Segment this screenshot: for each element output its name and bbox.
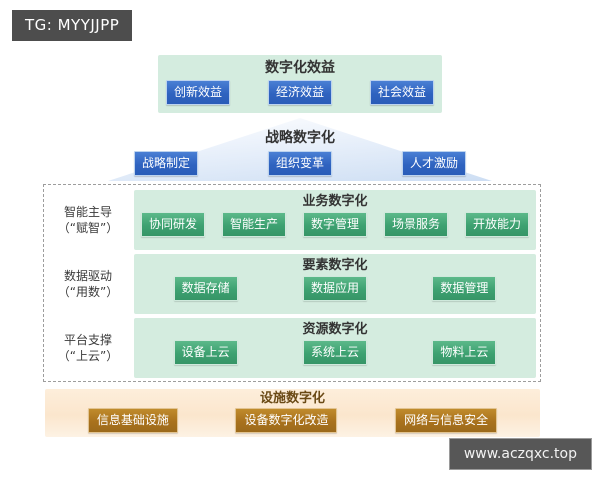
tier-element-digitalization: 数据驱动 （“用数”） 要素数字化 数据存储 数据应用 数据管理	[44, 254, 540, 314]
resource-item-equipment-cloud[interactable]: 设备上云	[174, 340, 238, 365]
core-dashed-container: 智能主导 （“赋智”） 业务数字化 协同研发 智能生产 数字管理 场景服务 开放…	[43, 184, 541, 382]
element-item-data-storage[interactable]: 数据存储	[174, 276, 238, 301]
element-item-data-management[interactable]: 数据管理	[432, 276, 496, 301]
tier-element-items: 数据存储 数据应用 数据管理	[134, 274, 536, 301]
strategy-item-talent[interactable]: 人才激励	[402, 151, 466, 176]
tier-resource-items: 设备上云 系统上云 物料上云	[134, 338, 536, 365]
element-row-label: 数据驱动 （“用数”）	[44, 254, 132, 314]
business-item-smart-production[interactable]: 智能生产	[222, 212, 286, 237]
business-item-open-capability[interactable]: 开放能力	[465, 212, 529, 237]
tier-facility-title: 设施数字化	[45, 389, 540, 407]
facility-item-equipment-upgrade[interactable]: 设备数字化改造	[235, 408, 337, 433]
facility-item-infrastructure[interactable]: 信息基础设施	[88, 408, 178, 433]
facility-item-network-security[interactable]: 网络与信息安全	[395, 408, 497, 433]
strategy-item-planning[interactable]: 战略制定	[134, 151, 198, 176]
tier-business-title: 业务数字化	[134, 190, 536, 210]
business-panel: 业务数字化 协同研发 智能生产 数字管理 场景服务 开放能力	[134, 190, 536, 250]
business-row-label: 智能主导 （“赋智”）	[44, 190, 132, 250]
benefit-item-social[interactable]: 社会效益	[370, 80, 434, 105]
element-label-line2: （“用数”）	[58, 284, 118, 300]
business-item-digital-management[interactable]: 数字管理	[303, 212, 367, 237]
tier-digital-benefit: 数字化效益 创新效益 经济效益 社会效益	[158, 55, 442, 113]
tier-strategy-title: 战略数字化	[108, 129, 492, 147]
tg-watermark-badge: TG: MYYJJPP	[12, 10, 132, 41]
resource-row-label: 平台支撑 （“上云”）	[44, 318, 132, 378]
business-label-line2: （“赋智”）	[58, 220, 118, 236]
resource-item-material-cloud[interactable]: 物料上云	[432, 340, 496, 365]
element-panel: 要素数字化 数据存储 数据应用 数据管理	[134, 254, 536, 314]
business-item-collaborative-rd[interactable]: 协同研发	[141, 212, 205, 237]
element-item-data-application[interactable]: 数据应用	[303, 276, 367, 301]
resource-item-system-cloud[interactable]: 系统上云	[303, 340, 367, 365]
tier-element-title: 要素数字化	[134, 254, 536, 274]
tier-facility-digitalization: 设施数字化 信息基础设施 设备数字化改造 网络与信息安全	[45, 389, 540, 437]
tier-benefit-items: 创新效益 经济效益 社会效益	[158, 77, 442, 105]
tier-business-items: 协同研发 智能生产 数字管理 场景服务 开放能力	[134, 210, 536, 237]
business-item-scenario-service[interactable]: 场景服务	[384, 212, 448, 237]
element-label-line1: 数据驱动	[64, 268, 112, 284]
resource-label-line2: （“上云”）	[58, 348, 118, 364]
benefit-item-innovation[interactable]: 创新效益	[166, 80, 230, 105]
resource-panel: 资源数字化 设备上云 系统上云 物料上云	[134, 318, 536, 378]
business-label-line1: 智能主导	[64, 204, 112, 220]
url-watermark-badge: www.aczqxc.top	[449, 438, 592, 470]
tier-benefit-title: 数字化效益	[158, 55, 442, 77]
tier-strategy-items: 战略制定 组织变革 人才激励	[134, 151, 466, 176]
resource-label-line1: 平台支撑	[64, 332, 112, 348]
tier-resource-digitalization: 平台支撑 （“上云”） 资源数字化 设备上云 系统上云 物料上云	[44, 318, 540, 378]
diagram-canvas: TG: MYYJJPP 数字化效益 创新效益 经济效益 社会效益 战略数字化 战…	[0, 0, 600, 480]
benefit-item-economic[interactable]: 经济效益	[268, 80, 332, 105]
roof-content: 战略数字化 战略制定 组织变革 人才激励	[108, 118, 492, 181]
tier-strategy-digitalization: 战略数字化 战略制定 组织变革 人才激励	[108, 118, 492, 181]
tier-facility-items: 信息基础设施 设备数字化改造 网络与信息安全	[45, 407, 540, 433]
strategy-item-organization[interactable]: 组织变革	[268, 151, 332, 176]
tier-resource-title: 资源数字化	[134, 318, 536, 338]
tier-business-digitalization: 智能主导 （“赋智”） 业务数字化 协同研发 智能生产 数字管理 场景服务 开放…	[44, 190, 540, 250]
